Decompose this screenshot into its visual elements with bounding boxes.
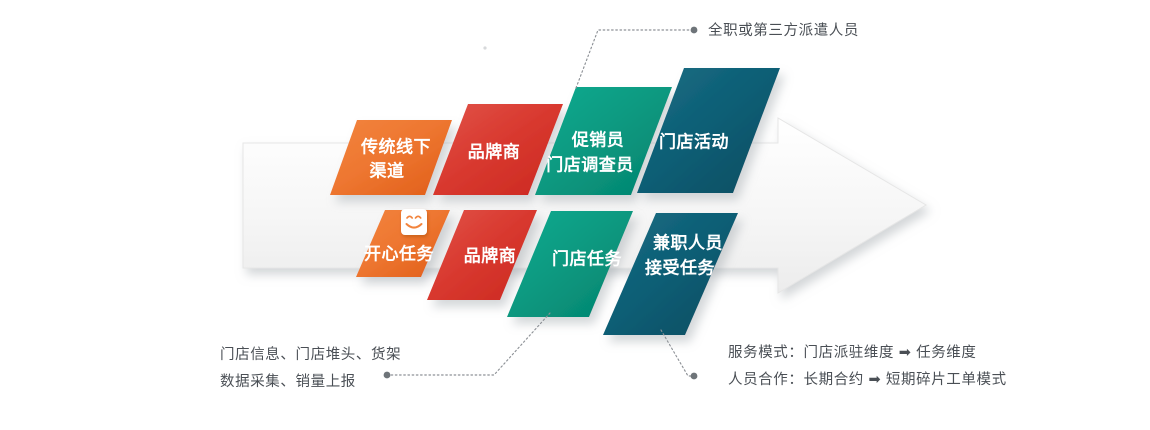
connector-data-collection-note [384,313,550,378]
annotation-line: 全职或第三方派遣人员 [708,21,859,39]
step-label-line: 品牌商 [468,141,521,161]
step-label-line: 接受任务 [645,257,715,277]
connector-staffing-note [576,27,697,88]
connector-endpoint-dot [384,372,391,379]
step-label-line: 渠道 [369,160,405,180]
step-label-line: 门店调查员 [546,154,634,174]
annotation-data-collection-note: 门店信息、门店堆头、货架 数据采集、销量上报 [220,346,401,390]
annotation-staffing-note: 全职或第三方派遣人员 [708,21,859,39]
annotation-line: 人员合作：长期合约 ➡ 短期碎片工单模式 [728,371,1007,388]
step-label-line: 门店活动 [659,131,729,151]
step-label-line: 传统线下 [360,136,431,156]
connector-service-model-note [661,330,697,379]
speck-artifact [483,46,486,49]
annotation-service-model-note: 服务模式：门店派驻维度 ➡ 任务维度 人员合作：长期合约 ➡ 短期碎片工单模式 [728,344,1007,388]
diagram-canvas: 传统线下 渠道 品牌商 促销员 门店调查员 门店活动 [0,0,1150,430]
connector-endpoint-dot [691,27,698,34]
step-label-line: 品牌商 [464,245,517,265]
annotation-line: 数据采集、销量上报 [220,373,356,390]
annotation-line: 服务模式：门店派驻维度 ➡ 任务维度 [728,344,977,361]
annotation-line: 门店信息、门店堆头、货架 [220,346,401,363]
smiley-face-icon [401,209,427,235]
connector-endpoint-dot [691,373,698,380]
step-label-line: 促销员 [571,129,625,149]
step-label-line: 兼职人员 [653,232,723,252]
top-row-group: 传统线下 渠道 品牌商 促销员 门店调查员 门店活动 [330,68,780,195]
step-label-line: 门店任务 [552,248,622,268]
step-label-line: 开心任务 [364,243,434,263]
process-flow-diagram: 传统线下 渠道 品牌商 促销员 门店调查员 门店活动 [0,0,1150,430]
